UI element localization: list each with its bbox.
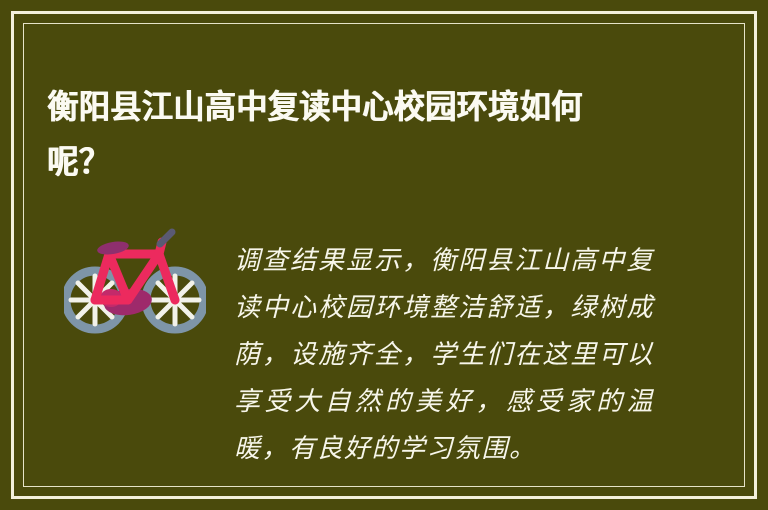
bicycle-icon (64, 220, 206, 340)
poster-canvas: 衡阳县江山高中复读中心校园环境如何呢？ (0, 0, 768, 510)
body-paragraph: 调查结果显示，衡阳县江山高中复读中心校园环境整洁舒适，绿树成荫，设施齐全，学生们… (234, 238, 654, 473)
page-title: 衡阳县江山高中复读中心校园环境如何呢？ (47, 79, 611, 189)
bicycle-illustration (64, 220, 206, 340)
handlebar (160, 232, 172, 244)
